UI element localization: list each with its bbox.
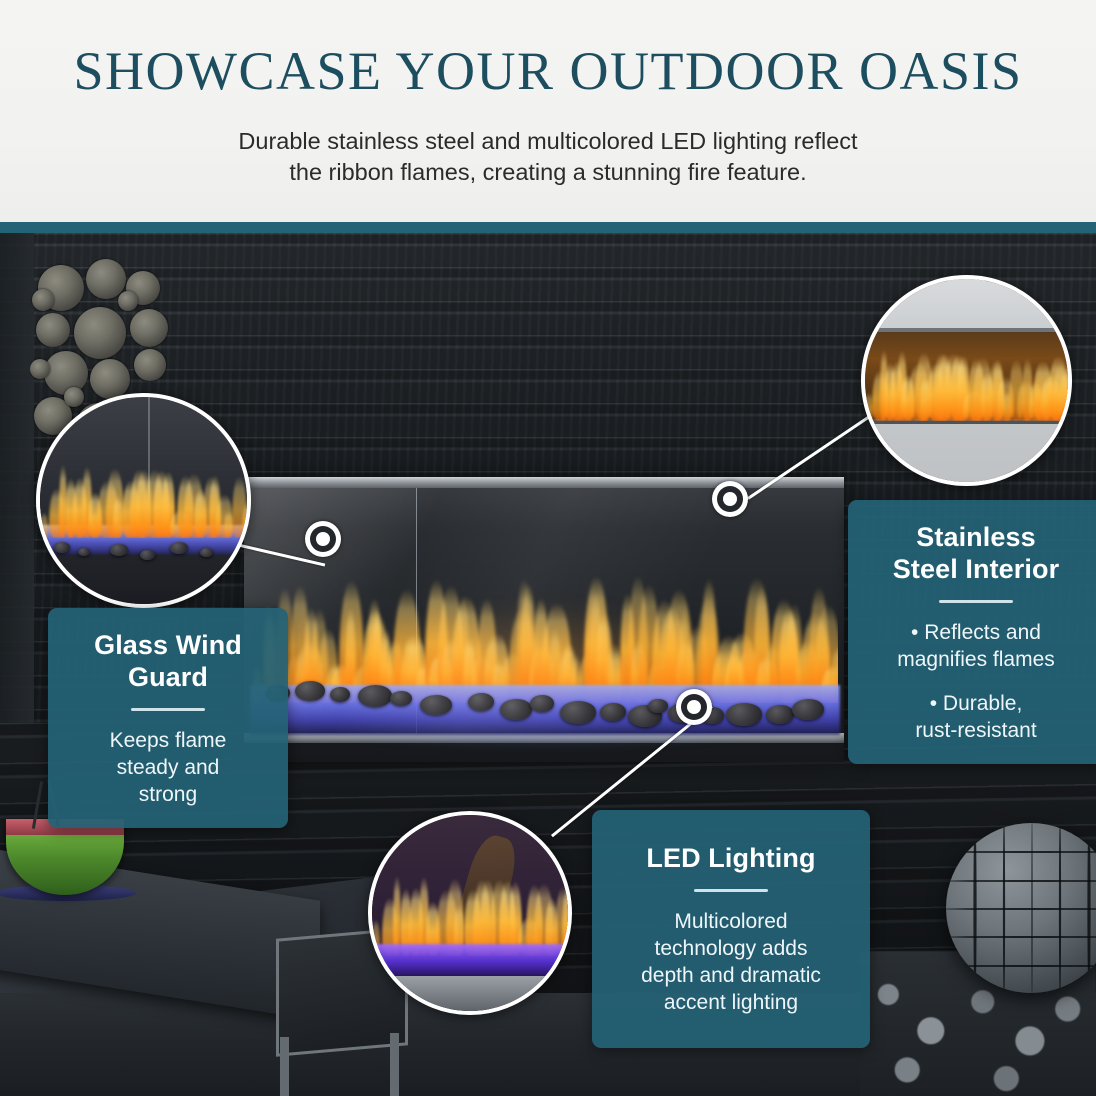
callout-title-glass-wind-guard: Glass Wind Guard	[94, 629, 242, 693]
lava-stone	[140, 550, 155, 560]
led-body-line-4: accent lighting	[664, 991, 798, 1014]
steel-title-line-2: Steel Interior	[893, 554, 1059, 584]
wire-cage-line	[946, 965, 1096, 967]
firewood-log	[118, 291, 138, 311]
steel-bullet-2: • Durable, rust-resistant	[897, 690, 1055, 744]
glass-title-line-2: Guard	[128, 662, 208, 692]
hotspot-marker-stainless-steel[interactable]	[712, 481, 748, 517]
chair-leg-left	[280, 1037, 289, 1096]
callout-body-glass-wind-guard: Keeps flame steady and strong	[110, 727, 227, 808]
firewood-log	[36, 313, 70, 347]
glass-body-line-2: steady and	[117, 756, 220, 779]
firewood-log	[134, 349, 166, 381]
steel-title-line-1: Stainless	[916, 522, 1035, 552]
wire-cage-line	[946, 908, 1096, 910]
wire-cage-line	[1087, 823, 1090, 993]
steel-bullet-1: • Reflects and magnifies flames	[897, 619, 1055, 673]
callout-rule-led	[694, 889, 768, 892]
callout-card-led-lighting[interactable]: LED Lighting Multicolored technology add…	[592, 810, 870, 1048]
magnifier-glass-content	[40, 397, 247, 604]
page-subtitle: Durable stainless steel and multicolored…	[148, 126, 948, 188]
header-band: SHOWCASE YOUR OUTDOOR OASIS Durable stai…	[0, 0, 1096, 222]
callout-card-stainless-steel[interactable]: Stainless Steel Interior • Reflects and …	[848, 500, 1096, 764]
lava-stone	[54, 542, 70, 553]
glass-body-line-3: strong	[139, 783, 197, 806]
magnifier-steel-content	[865, 279, 1068, 482]
led-title-line-1: LED Lighting	[646, 843, 815, 873]
steel-bullet-2-line-2: rust-resistant	[915, 719, 1036, 742]
lava-stone	[170, 542, 188, 554]
firewood-log	[30, 359, 50, 379]
wire-cage-line	[1059, 823, 1061, 993]
callout-title-stainless-steel: Stainless Steel Interior	[893, 521, 1059, 585]
lava-stone	[78, 548, 90, 556]
callout-rule-steel	[939, 600, 1013, 603]
callout-title-led-lighting: LED Lighting	[646, 842, 815, 874]
led-body-line-3: depth and dramatic	[641, 964, 821, 987]
callout-rule-glass	[131, 708, 205, 711]
glass-title-line-1: Glass Wind	[94, 630, 242, 660]
lava-stone	[200, 548, 213, 557]
callout-body-led-lighting: Multicolored technology adds depth and d…	[641, 908, 821, 1016]
steel-bullet-2-line-1: • Durable,	[930, 692, 1023, 715]
infographic-page: SHOWCASE YOUR OUTDOOR OASIS Durable stai…	[0, 0, 1096, 1096]
wire-cage-line	[946, 880, 1096, 882]
magnifier-stainless-steel[interactable]	[861, 275, 1072, 486]
magnifier-glass-wind-guard[interactable]	[36, 393, 251, 608]
teal-divider-bar	[0, 222, 1096, 233]
steel-bullet-1-line-1: • Reflects and	[911, 621, 1041, 644]
firewood-log	[44, 351, 88, 395]
fireplace-top-trim	[244, 477, 844, 488]
wire-cage-line	[946, 851, 1096, 853]
magnifier-led-content	[372, 815, 568, 1011]
callout-body-stainless-steel: • Reflects and magnifies flames • Durabl…	[897, 619, 1055, 744]
lava-stone	[110, 544, 128, 556]
firewood-log	[74, 307, 126, 359]
wire-cage-line	[946, 936, 1096, 938]
magnifier-led-lighting[interactable]	[368, 811, 572, 1015]
firewood-log	[90, 359, 130, 399]
glass-body-line-1: Keeps flame	[110, 729, 227, 752]
firewood-log	[130, 309, 168, 347]
wall-corner-column	[0, 233, 34, 793]
led-body-line-1: Multicolored	[674, 910, 787, 933]
firewood-log	[32, 289, 54, 311]
steel-bullet-1-line-2: magnifies flames	[897, 648, 1055, 671]
hotspot-marker-glass-wind-guard[interactable]	[305, 521, 341, 557]
led-body-line-2: technology adds	[655, 937, 808, 960]
subtitle-line-1: Durable stainless steel and multicolored…	[148, 126, 948, 157]
chair-leg-right	[390, 1033, 399, 1096]
subtitle-line-2: the ribbon flames, creating a stunning f…	[148, 157, 948, 188]
page-title: SHOWCASE YOUR OUTDOOR OASIS	[0, 44, 1096, 98]
hotspot-marker-led-lighting[interactable]	[676, 689, 712, 725]
callout-card-glass-wind-guard[interactable]: Glass Wind Guard Keeps flame steady and …	[48, 608, 288, 828]
